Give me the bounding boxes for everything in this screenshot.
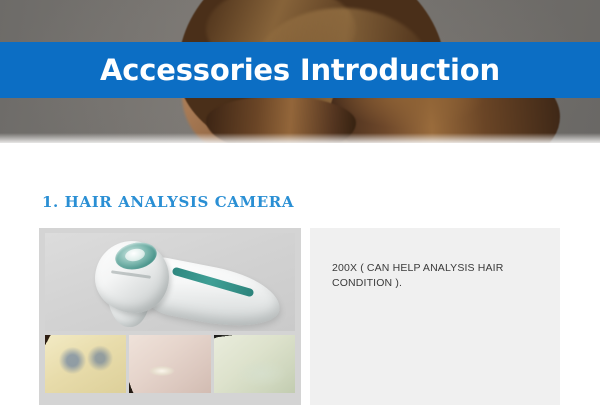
sample-thumbnail [45, 335, 126, 393]
sample-thumbnail-row [45, 335, 295, 393]
product-description-panel: 200X ( CAN HELP ANALYSIS HAIR CONDITION … [310, 228, 560, 405]
product-description-text: 200X ( CAN HELP ANALYSIS HAIR CONDITION … [332, 261, 540, 291]
content-area: 1. HAIR ANALYSIS CAMERA 200X ( CAN HELP … [0, 143, 600, 416]
product-image-panel [39, 228, 301, 405]
section-heading: 1. HAIR ANALYSIS CAMERA [42, 193, 294, 211]
sample-thumbnail [129, 335, 210, 393]
sample-thumbnail [214, 335, 295, 393]
device-photo [45, 233, 295, 331]
title-banner: Accessories Introduction [0, 42, 600, 98]
page-title: Accessories Introduction [100, 56, 500, 85]
hero-bottom-fade [0, 133, 600, 143]
